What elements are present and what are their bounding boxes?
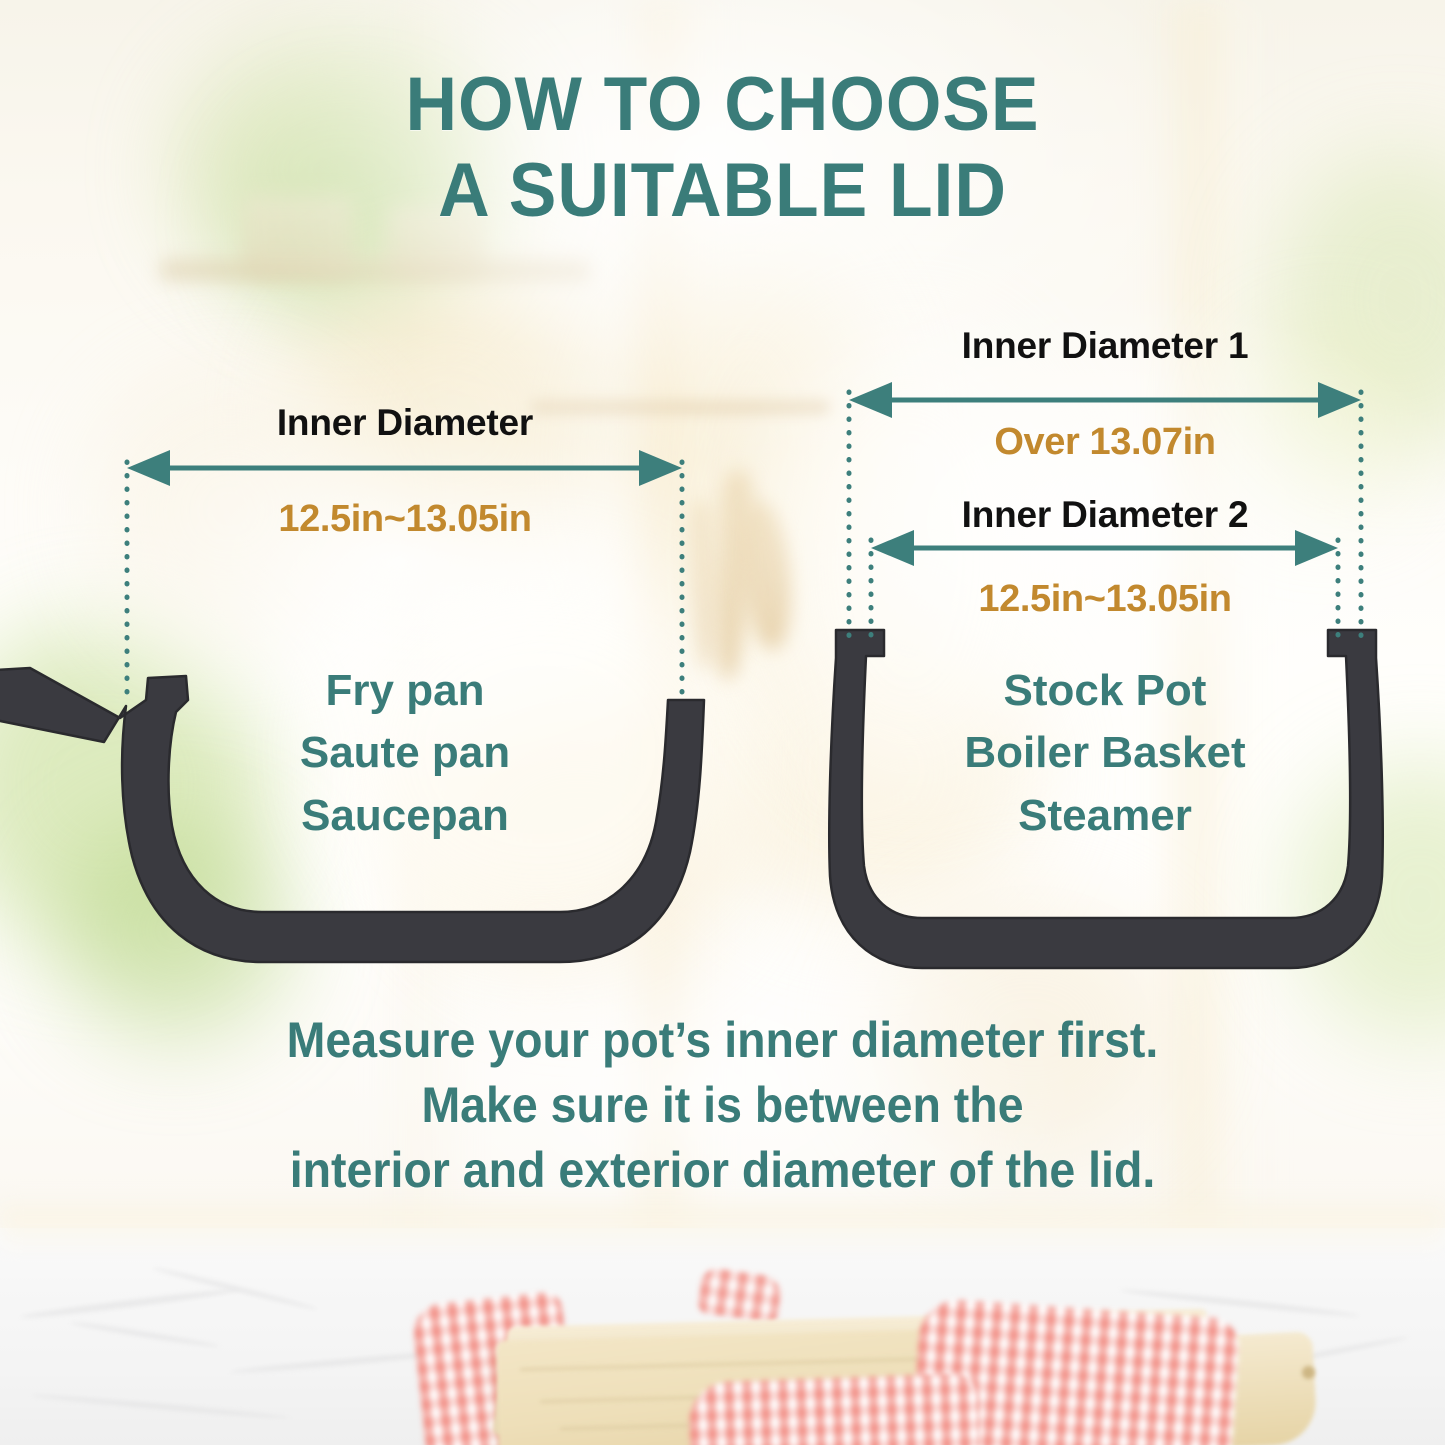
inner-diameter-1-arrow: [849, 382, 1361, 418]
left-category-item: Saute pan: [0, 722, 810, 784]
right-inner-diameter-1-label: Inner Diameter 1: [835, 325, 1375, 367]
instruction-line-3: interior and exterior diameter of the li…: [51, 1138, 1395, 1203]
right-category-item: Stock Pot: [835, 660, 1375, 722]
left-vessel-category-list: Fry pan Saute pan Saucepan: [0, 660, 810, 847]
left-inner-diameter-value: 12.5in~13.05in: [0, 498, 810, 541]
right-inner-diameter-1-value: Over 13.07in: [835, 421, 1375, 464]
left-inner-diameter-label: Inner Diameter: [0, 402, 810, 444]
right-category-item: Boiler Basket: [835, 722, 1375, 784]
right-inner-diameter-2-value: 12.5in~13.05in: [835, 578, 1375, 621]
right-inner-diameter-2-label: Inner Diameter 2: [835, 494, 1375, 536]
instruction-line-1: Measure your pot’s inner diameter first.: [51, 1008, 1395, 1073]
right-vessel-category-list: Stock Pot Boiler Basket Steamer: [835, 660, 1375, 847]
instruction-text: Measure your pot’s inner diameter first.…: [51, 1008, 1395, 1203]
left-category-item: Saucepan: [0, 785, 810, 847]
infographic-canvas: HOW TO CHOOSE A SUITABLE LID: [0, 0, 1445, 1445]
right-category-item: Steamer: [835, 785, 1375, 847]
left-category-item: Fry pan: [0, 660, 810, 722]
instruction-line-2: Make sure it is between the: [51, 1073, 1395, 1138]
inner-diameter-arrow: [127, 450, 682, 486]
